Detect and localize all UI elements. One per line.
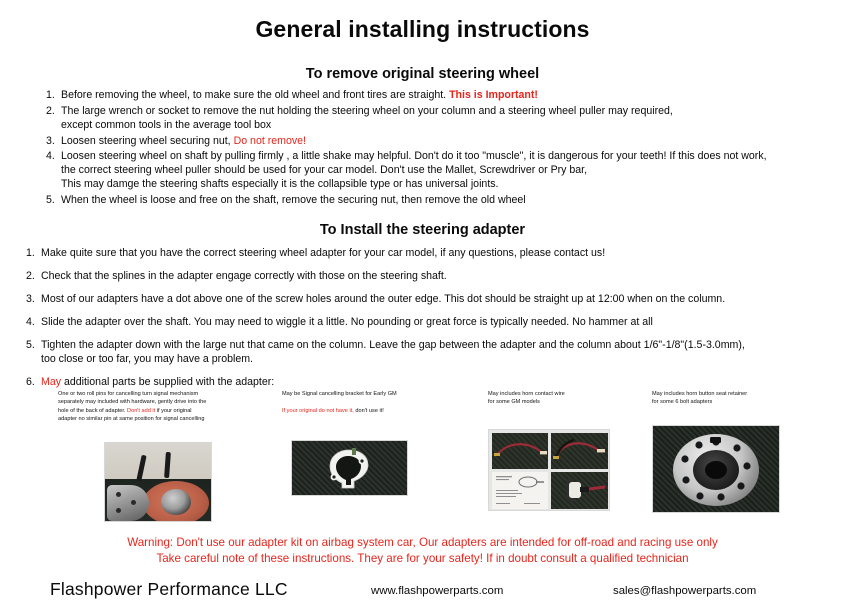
list-item-number: 1.: [46, 89, 61, 103]
section-heading-install: To Install the steering adapter: [0, 222, 845, 238]
list-item-text: the correct steering wheel puller should…: [61, 164, 831, 178]
list-item-body: Loosen steering wheel on shaft by pullin…: [61, 150, 831, 192]
figure-caption: One or two roll pins for cancelling turn…: [58, 390, 273, 424]
list-item-number: 2.: [26, 270, 41, 284]
bolt-hole-icon: [116, 508, 121, 513]
list-item-text: Tighten the adapter down with the large …: [41, 339, 831, 353]
list-item: 5. When the wheel is loose and free on t…: [46, 194, 831, 208]
list-item-text: The large wrench or socket to remove the…: [61, 105, 831, 119]
list-item-body: Make quite sure that you have the correc…: [41, 247, 831, 261]
page-title: General installing instructions: [0, 16, 845, 44]
list-item: 2. Check that the splines in the adapter…: [26, 270, 831, 284]
roll-pin-icon: [136, 454, 146, 480]
figure-caption: May includes horn button seat retainer f…: [652, 390, 842, 407]
email-link[interactable]: sales@flashpowerparts.com: [613, 585, 756, 597]
website-link[interactable]: www.flashpowerparts.com: [371, 585, 503, 597]
emphasis-important: This is Important!: [449, 89, 538, 101]
list-item: 5. Tighten the adapter down with the lar…: [26, 339, 831, 367]
roll-pins-figure: One or two roll pins for cancelling turn…: [58, 390, 273, 522]
list-item-text: Loosen steering wheel on shaft by pullin…: [61, 150, 831, 164]
roll-pin-icon: [164, 451, 171, 477]
list-item-number: 3.: [26, 293, 41, 307]
adapter-flange-shape: [107, 485, 149, 521]
list-item-body: Check that the splines in the adapter en…: [41, 270, 831, 284]
list-item-number: 5.: [26, 339, 41, 367]
roll-pins-photo: [104, 442, 212, 522]
instruction-sheet-thumbnail: [492, 472, 548, 509]
figure-caption: May be Signal cancelling bracket for Ear…: [282, 390, 482, 415]
adapter-hub-shape: [161, 489, 191, 515]
list-item-body: Tighten the adapter down with the large …: [41, 339, 831, 367]
company-name: Flashpower Performance LLC: [50, 579, 288, 600]
section-heading-remove: To remove original steering wheel: [0, 66, 845, 82]
horn-button-seat-retainer-photo: [652, 425, 780, 513]
list-item-text: additional parts be supplied with the ad…: [61, 376, 274, 388]
list-item-text: too close or too far, you may have a pro…: [41, 353, 831, 367]
list-item-body: When the wheel is loose and free on the …: [61, 194, 831, 208]
list-item: 3. Loosen steering wheel securing nut, D…: [46, 135, 831, 149]
warning-line-1: Warning: Don't use our adapter kit on ai…: [0, 535, 845, 551]
warning-line-2: Take careful note of these instructions.…: [0, 551, 845, 567]
bolt-holes-group: [673, 434, 759, 506]
horn-contact-wire-photo: [488, 429, 610, 511]
bracket-shape: [318, 447, 380, 491]
wire-illustration: [492, 433, 548, 469]
horn-contact-assembly: [551, 472, 608, 509]
horn-wire-figure: May includes horn contact wire for some …: [488, 390, 668, 511]
list-item-text: This may damge the steering shafts espec…: [61, 178, 831, 192]
signal-bracket-photo: [291, 440, 408, 496]
bolt-hole-icon: [131, 500, 136, 505]
list-item-text: When the wheel is loose and free on the …: [61, 194, 526, 206]
list-item-text: Loosen steering wheel securing nut,: [61, 135, 231, 147]
horn-button-retainer-figure: May includes horn button seat retainer f…: [652, 390, 842, 513]
list-item-number: 2.: [46, 105, 61, 133]
list-item: 4. Slide the adapter over the shaft. You…: [26, 316, 831, 330]
document-page: General installing instructions To remov…: [0, 16, 845, 611]
list-item: 1. Before removing the wheel, to make su…: [46, 89, 831, 103]
list-item-number: 4.: [26, 316, 41, 330]
caption-text-pre: May includes horn contact wire for some …: [488, 391, 565, 405]
list-item: 1. Make quite sure that you have the cor…: [26, 247, 831, 261]
caption-text-pre: May includes horn button seat retainer f…: [652, 391, 747, 405]
list-item: 4. Loosen steering wheel on shaft by pul…: [46, 150, 831, 192]
list-item-body: Loosen steering wheel securing nut, Do n…: [61, 135, 831, 149]
list-item: 6. May additional parts be supplied with…: [26, 376, 831, 390]
emphasis-may: May: [41, 376, 61, 388]
list-item-number: 5.: [46, 194, 61, 208]
footer: Flashpower Performance LLC www.flashpowe…: [0, 579, 845, 609]
list-item-number: 4.: [46, 150, 61, 192]
list-item: 2. The large wrench or socket to remove …: [46, 105, 831, 133]
list-item-body: May additional parts be supplied with th…: [41, 376, 831, 390]
install-instruction-list: 1. Make quite sure that you have the cor…: [0, 247, 845, 390]
list-item-number: 1.: [26, 247, 41, 261]
figure-caption: May includes horn contact wire for some …: [488, 390, 668, 407]
caption-text-red: Don't add it: [127, 408, 155, 414]
warning-block: Warning: Don't use our adapter kit on ai…: [0, 535, 845, 568]
remove-instruction-list: 1. Before removing the wheel, to make su…: [0, 89, 845, 209]
list-item-body: The large wrench or socket to remove the…: [61, 105, 831, 133]
list-item: 3. Most of our adapters have a dot above…: [26, 293, 831, 307]
emphasis-do-not-remove: Do not remove!: [234, 135, 306, 147]
caption-text-pre: May be Signal cancelling bracket for Ear…: [282, 391, 397, 397]
signal-bracket-figure: May be Signal cancelling bracket for Ear…: [282, 390, 482, 496]
caption-text-red: If your original do not have it,: [282, 408, 354, 414]
list-item-number: 6.: [26, 376, 41, 390]
bolt-hole-icon: [116, 492, 121, 497]
figure-row: One or two roll pins for cancelling turn…: [0, 390, 845, 530]
list-item-body: Slide the adapter over the shaft. You ma…: [41, 316, 831, 330]
wire-illustration: [551, 433, 608, 469]
list-item-number: 3.: [46, 135, 61, 149]
list-item-text: Before removing the wheel, to make sure …: [61, 89, 446, 101]
list-item-body: Most of our adapters have a dot above on…: [41, 293, 831, 307]
caption-text-post: don't use it!: [354, 408, 384, 414]
list-item-text: except common tools in the average tool …: [61, 119, 831, 133]
list-item-body: Before removing the wheel, to make sure …: [61, 89, 831, 103]
